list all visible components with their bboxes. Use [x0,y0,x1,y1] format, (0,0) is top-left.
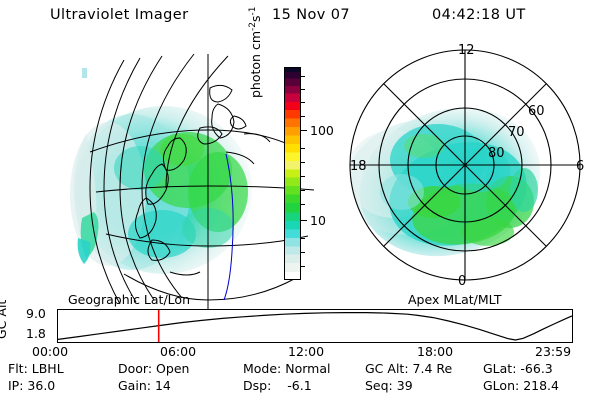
mlat-label-70: 70 [508,125,525,140]
mlt-label-0: 0 [458,274,466,289]
status-dsp-key: Dsp: [243,378,271,393]
colorbar-minor-tick [301,116,305,117]
observation-date: 15 Nov 07 [272,7,350,23]
instrument-title: Ultraviolet Imager [50,7,188,23]
status-filter-value: LBHL [32,361,64,376]
mlt-caption: Apex MLat/MLT [408,292,502,307]
status-seq-key: Seq: [365,378,393,393]
status-door-value: Open [156,361,189,376]
status-ip-value: 36.0 [27,378,55,393]
orbit-ytick-high: 9.0 [26,306,46,321]
status-ip: IP: 36.0 [8,378,55,393]
colorbar-minor-tick [301,102,305,103]
mlt-label-6: 6 [576,159,584,174]
orbit-xtick-2: 12:00 [288,344,324,359]
colorbar-tick-10 [301,220,307,221]
colorbar-minor-tick [301,266,305,267]
status-glon: GLon: 218.4 [483,378,559,393]
colorbar-label-100: 100 [310,123,334,138]
status-seq: Seq: 39 [365,378,413,393]
mlt-polar-projection: 12 6 0 18 60 70 80 [338,42,594,298]
status-mode: Mode: Normal [243,361,331,376]
orbit-xtick-3: 18:00 [417,344,453,359]
colorbar-axis-title: photon cm-2s-1 [248,7,263,98]
colorbar-minor-tick [301,204,305,205]
mlt-label-18: 18 [350,159,367,174]
status-glon-key: GLon: [483,378,519,393]
altitude-trace [58,313,572,340]
status-glon-value: 218.4 [523,378,559,393]
colorbar-minor-tick [301,89,305,90]
colorbar-minor-tick [301,190,305,191]
orbit-xtick-0: 00:00 [32,344,68,359]
status-gcalt: GC Alt: 7.4 Re [365,361,452,376]
colorbar-minor-tick [301,252,305,253]
status-gcalt-key: GC Alt: [365,361,409,376]
colorbar: photon cm-2s-1 100 10 [250,58,340,293]
status-seq-value: 39 [397,378,413,393]
status-ip-key: IP: [8,378,23,393]
status-glat-value: -66.3 [520,361,552,376]
status-filter-key: Flt: [8,361,28,376]
status-readout: Flt: LBHL IP: 36.0 Door: Open Gain: 14 M… [0,361,600,397]
orbit-plot-box [57,309,573,343]
mlt-grid [350,50,580,280]
geographic-projection [12,42,270,300]
status-mode-value: Normal [285,361,330,376]
colorbar-label-10: 10 [310,213,326,228]
status-gain-key: Gain: [118,378,151,393]
orbit-y-axis-label: GC Alt [0,300,9,339]
header-bar: Ultraviolet Imager 15 Nov 07 04:42:18 UT [0,6,600,28]
colorbar-unit-sec: s [248,16,263,23]
status-mode-key: Mode: [243,361,281,376]
status-gain-value: 14 [155,378,171,393]
geographic-image-panel [12,42,270,300]
status-dsp: Dsp: -6.1 [243,378,312,393]
colorbar-unit-main: photon cm [248,31,263,98]
colorbar-minor-tick [301,176,305,177]
orbit-altitude-panel: Geographic Lat/Lon Apex MLat/MLT GC Alt … [0,292,600,354]
status-door-key: Door: [118,361,152,376]
colorbar-unit-exp1: -2 [248,22,258,31]
aurora-emission-mlt [330,85,560,279]
observation-time: 04:42:18 UT [432,7,526,23]
mlt-label-12: 12 [458,43,475,58]
mlat-label-60: 60 [528,104,545,119]
orbit-xtick-1: 06:00 [160,344,196,359]
colorbar-minor-tick [301,76,305,77]
status-filter: Flt: LBHL [8,361,64,376]
status-glat: GLat: -66.3 [483,361,553,376]
status-gain: Gain: 14 [118,378,171,393]
status-dsp-value: -6.1 [287,378,311,393]
status-door: Door: Open [118,361,189,376]
colorbar-tick-100 [301,130,307,131]
colorbar-minor-tick [301,148,305,149]
colorbar-minor-tick [301,238,305,239]
colorbar-gradient [284,67,301,280]
colorbar-minor-tick [301,162,305,163]
orbit-ytick-low: 1.8 [26,326,46,341]
geographic-caption: Geographic Lat/Lon [68,292,190,307]
mlt-image-panel: 12 6 0 18 60 70 80 [338,42,594,298]
mlat-label-80: 80 [488,146,505,161]
colorbar-unit-exp2: -1 [248,7,258,16]
status-glat-key: GLat: [483,361,516,376]
status-gcalt-value: 7.4 Re [413,361,453,376]
orbit-xtick-4: 23:59 [535,344,571,359]
orbit-altitude-curve [58,310,572,342]
